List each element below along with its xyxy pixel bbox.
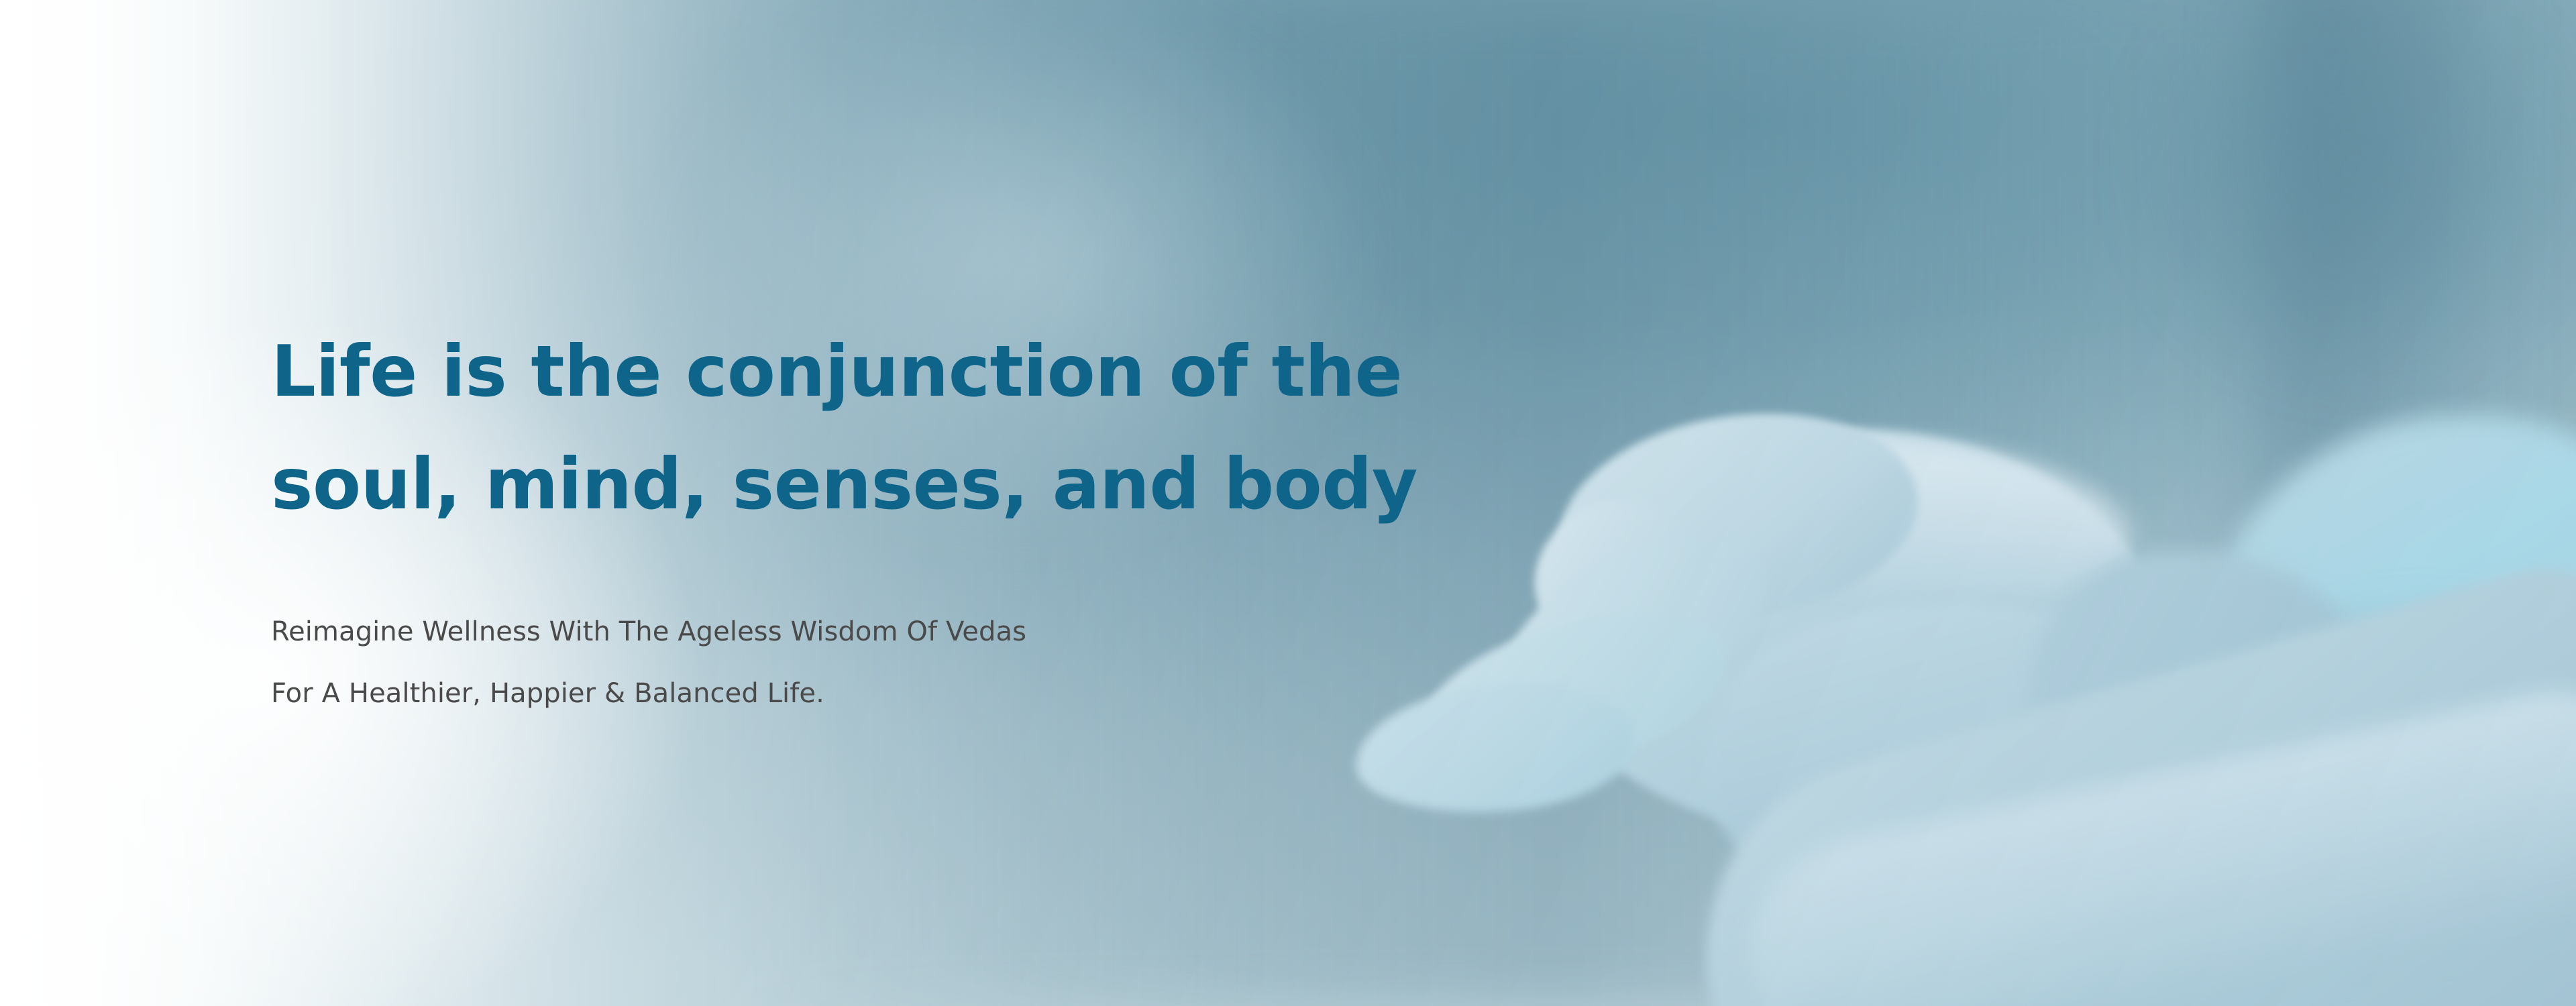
headline-line-2: soul, mind, senses, and body: [271, 428, 1445, 541]
hero-banner: Life is the conjunction of the soul, min…: [0, 0, 2576, 1006]
hero-subcopy: Reimagine Wellness With The Ageless Wisd…: [271, 601, 1445, 724]
subcopy-line-1: Reimagine Wellness With The Ageless Wisd…: [271, 601, 1445, 663]
headline-line-1: Life is the conjunction of the: [271, 315, 1445, 428]
hero-copy-block: Life is the conjunction of the soul, min…: [271, 315, 1445, 724]
subcopy-line-2: For A Healthier, Happier & Balanced Life…: [271, 663, 1445, 724]
hero-headline: Life is the conjunction of the soul, min…: [271, 315, 1445, 541]
